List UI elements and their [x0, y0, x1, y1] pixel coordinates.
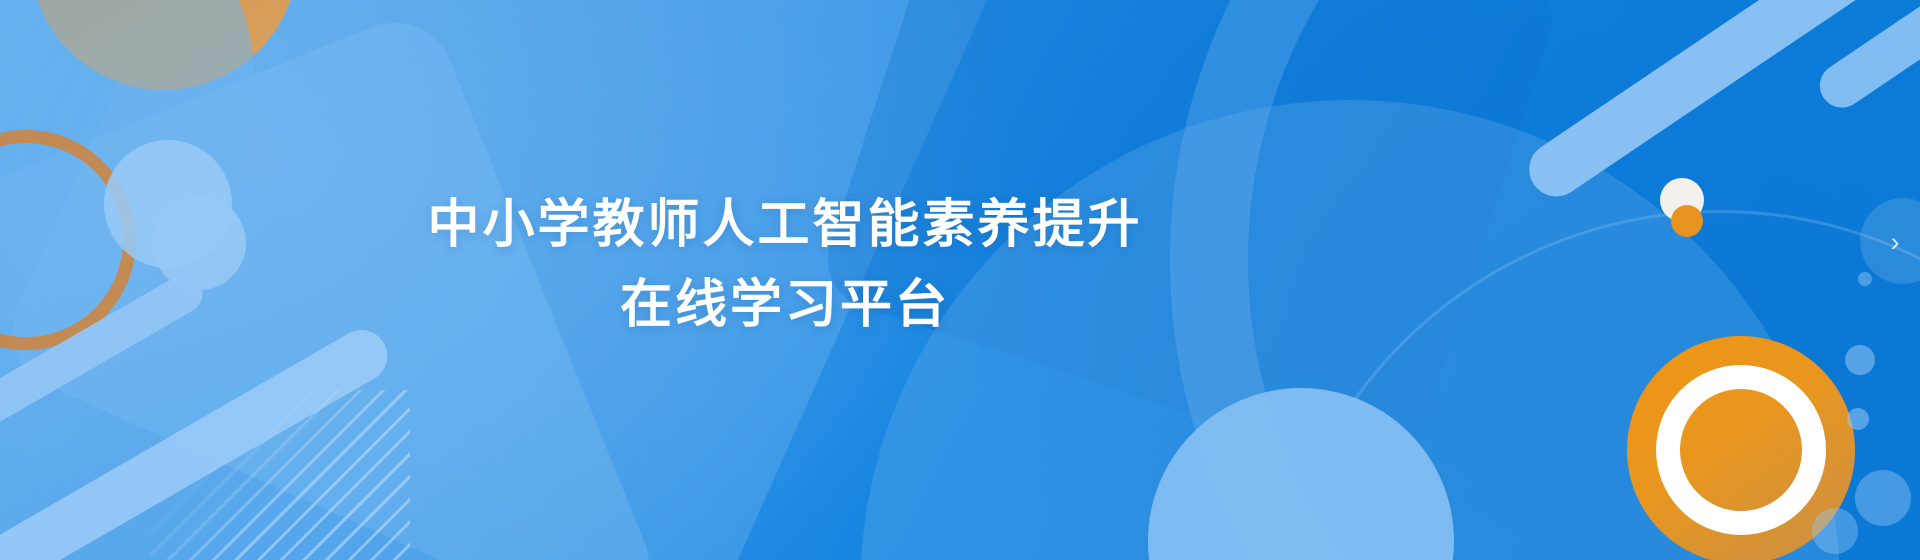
hatched-lines-bottom-left	[150, 390, 410, 560]
bubble-right-4	[1812, 508, 1858, 554]
bubble-right-1	[1845, 345, 1875, 375]
banner-title: 中小学教师人工智能素养提升 在线学习平台	[0, 185, 1570, 345]
banner-title-line-2: 在线学习平台	[0, 265, 1570, 345]
bubble-right-3	[1855, 470, 1911, 526]
hero-banner: 中小学教师人工智能素养提升 在线学习平台 ›	[0, 0, 1920, 560]
orange-dot-upper-right	[1671, 205, 1703, 237]
bubble-right-2	[1847, 408, 1869, 430]
bubble-right-5	[1858, 272, 1872, 286]
orange-donut-white-ring	[1656, 365, 1826, 535]
banner-title-line-1: 中小学教师人工智能素养提升	[0, 185, 1570, 265]
